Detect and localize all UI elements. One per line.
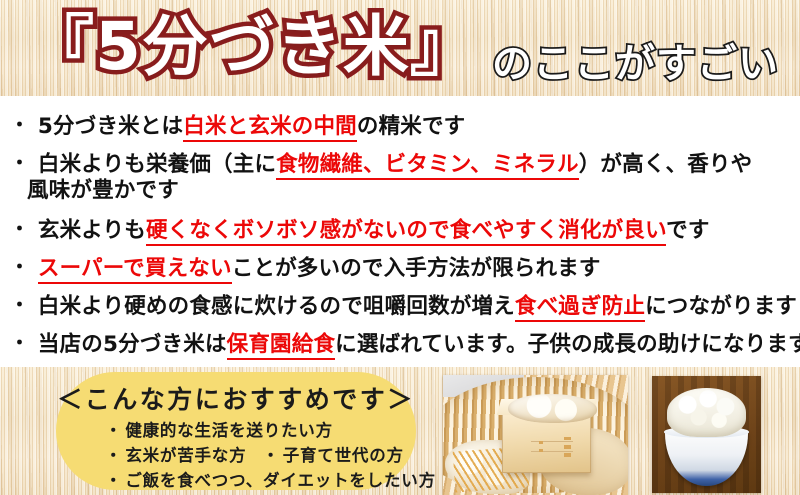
header: 『5分づき米』 のここがすごい: [0, 0, 800, 96]
masu-joint: [564, 453, 570, 456]
list-item-label: 健康的な生活を送りたい方: [125, 421, 333, 440]
bullet-marker: ・: [10, 216, 29, 242]
highlight-text: 硬くなくボソボソ感がないので食べやすく消化が良い: [146, 218, 666, 246]
list-item: ・ 白米より硬めの食感に炊けるので咀嚼回数が増え食べ過ぎ防止につながります: [10, 292, 797, 320]
promo-graphic: 『5分づき米』 のここがすごい ・ 5分づき米とは白米と玄米の中間の精米です ・…: [0, 0, 800, 495]
list-item: ・ 白米よりも栄養価（主に食物繊維、ビタミン、ミネラル）が高く、香りや: [10, 150, 752, 178]
list-item-text-part: ）が高く、香りや: [579, 152, 753, 177]
list-item: ・健康的な生活を送りたい方: [105, 417, 333, 441]
list-item: ・ スーパーで買えないことが多いので入手方法が限られます: [10, 254, 601, 282]
bullet-marker: ・: [105, 446, 122, 465]
bullet-marker: ・: [262, 446, 279, 465]
page-title: 『5分づき米』: [28, 6, 477, 88]
highlight-text: 食べ過ぎ防止: [515, 294, 645, 322]
masu-seam: [531, 451, 574, 452]
list-item-text-part: ことが多いので入手方法が限られます: [232, 256, 601, 281]
list-item-text-part: 5分づき米とは: [38, 114, 183, 139]
cooked-rice-heap: [667, 388, 745, 437]
masu-joint: [539, 441, 543, 444]
recommendation-title: ＜こんな方におすすめです＞: [56, 380, 416, 416]
bullet-marker: ・: [105, 421, 122, 440]
list-item: ・ 当店の5分づき米は保育園給食に選ばれています。子供の成長の助けになります: [10, 330, 800, 358]
masu-joint: [539, 449, 543, 452]
masu-joint: [564, 445, 570, 448]
benefits-list: ・ 5分づき米とは白米と玄米の中間の精米です ・ 白米よりも栄養価（主に食物繊維…: [0, 96, 800, 367]
photo-cooked-rice-bowl: [652, 376, 761, 493]
bullet-marker: ・: [10, 150, 29, 176]
recommendation-box: ＜こんな方におすすめです＞ ・健康的な生活を送りたい方 ・玄米が苦手な方・子育て…: [56, 372, 416, 490]
list-item: ・ご飯を食べつつ、ダイエットをしたい方: [105, 467, 436, 491]
bullet-marker: ・: [10, 292, 29, 318]
list-item-text-part: 白米よりも栄養価（主に: [38, 152, 276, 177]
list-item-text-part: に選ばれています。子供の成長の助けになります: [335, 332, 800, 357]
list-item-text-part: 玄米よりも: [38, 218, 146, 243]
highlight-text: スーパーで買えない: [38, 256, 232, 284]
rice-heap-in-masu: [508, 394, 597, 423]
highlight-text: 白米と玄米の中間: [183, 114, 357, 142]
list-item-text-part: 白米より硬めの食感に炊けるので咀嚼回数が増え: [38, 294, 515, 319]
bullet-marker: ・: [10, 254, 29, 280]
highlight-text: 保育園給食: [227, 332, 336, 360]
masu-joint: [564, 437, 570, 440]
list-item-label: 玄米が苦手な方: [125, 446, 246, 465]
list-item: ・玄米が苦手な方・子育て世代の方: [105, 442, 404, 466]
list-item-continuation: 風味が豊かです: [10, 178, 179, 204]
list-item-label: 子育て世代の方: [283, 446, 404, 465]
list-item: ・ 5分づき米とは白米と玄米の中間の精米です: [10, 112, 465, 140]
list-item-text-part: の精米です: [357, 114, 466, 139]
list-item-text-part: です: [666, 218, 709, 243]
list-item-text-part: 当店の5分づき米は: [38, 332, 227, 357]
list-item-label: ご飯を食べつつ、ダイエットをしたい方: [125, 471, 436, 490]
list-item-text-part: 風味が豊かです: [10, 178, 179, 204]
list-item-text-part: につながります: [645, 294, 797, 319]
photo-rice-in-masu-box: [443, 375, 628, 495]
bullet-marker: ・: [10, 112, 29, 138]
page-subtitle: のここがすごい: [492, 40, 779, 88]
bullet-marker: ・: [105, 471, 122, 490]
bullet-marker: ・: [10, 330, 29, 356]
list-item: ・ 玄米よりも硬くなくボソボソ感がないので食べやすく消化が良いです: [10, 216, 710, 244]
masu-seam: [531, 441, 574, 442]
highlight-text: 食物繊維、ビタミン、ミネラル: [276, 152, 579, 180]
